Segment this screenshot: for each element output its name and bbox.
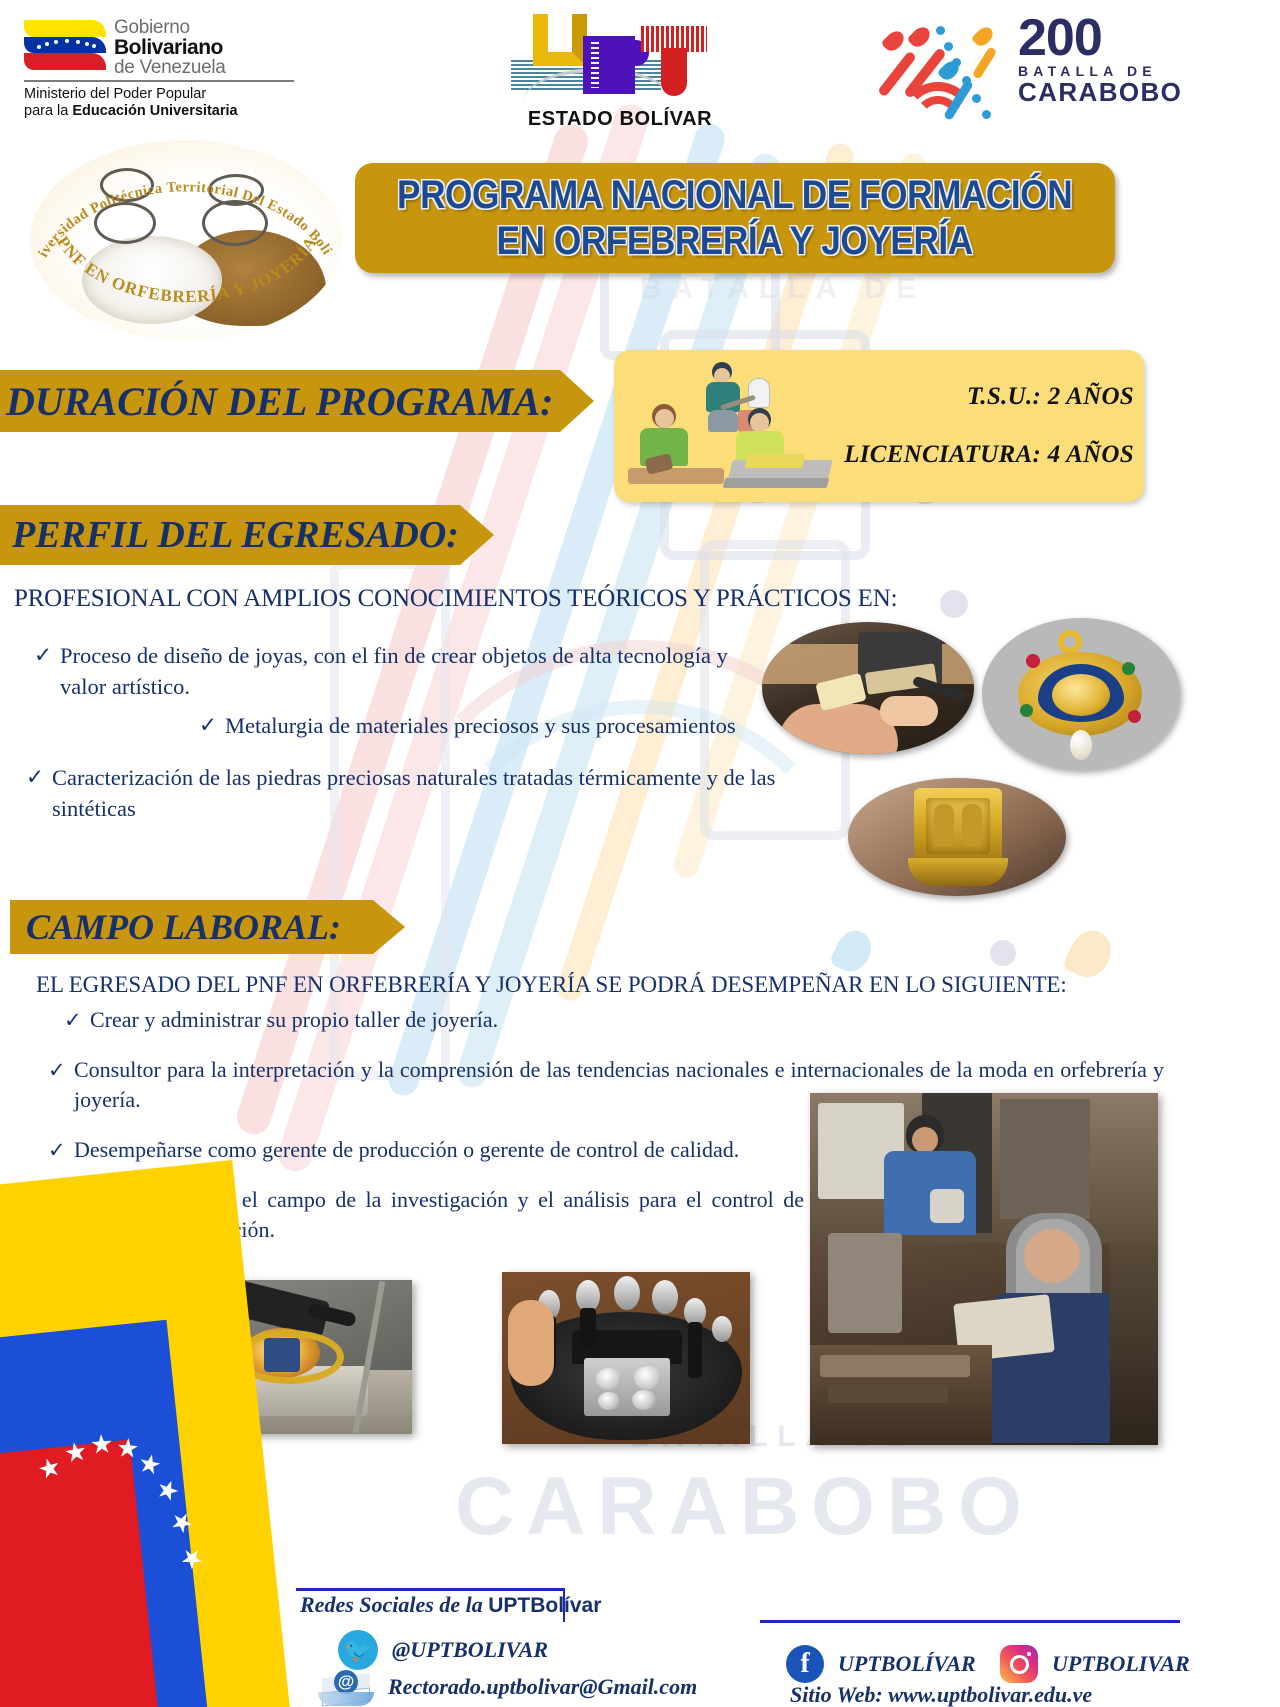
duration-item-tsu: T.S.U.: 2 AÑOS — [835, 383, 1134, 411]
campo-lead-text: EL EGRESADO DEL PNF EN ORFEBRERÍA Y JOYE… — [36, 972, 1067, 998]
photo-dapping-punches — [502, 1272, 750, 1444]
carabobo-number: 200 — [1018, 14, 1160, 62]
poster-root: BATALLA DE CARABOBO BATALLA DE Gobierno — [0, 0, 1280, 1707]
watermark-text-carabobo: CARABOBO — [455, 1460, 1034, 1554]
seal-crucible-icon — [202, 200, 268, 246]
ministry-line2: para la Educación Universitaria — [24, 103, 314, 120]
facebook-icon[interactable]: f — [786, 1645, 824, 1683]
duration-item-licenciatura: LICENCIATURA: 4 AÑOS — [835, 441, 1134, 469]
artisans-illustration — [620, 356, 835, 496]
perfil-bullet-2: Metalurgia de materiales preciosos y sus… — [195, 710, 815, 741]
gov-logo-line1: Gobierno — [114, 18, 226, 37]
gov-logo-line3: de Venezuela — [114, 58, 226, 77]
photo-gold-ring — [848, 778, 1066, 896]
watermark-dot — [990, 940, 1016, 966]
page-title-line2: EN ORFEBRERÍA Y JOYERÍA — [497, 218, 973, 264]
seal-background — [30, 140, 342, 340]
upt-logo-caption: ESTADO BOLÍVAR — [505, 108, 735, 131]
instagram-icon[interactable] — [1000, 1645, 1038, 1683]
footer-divider-right — [760, 1620, 1180, 1623]
section-heading-campo: CAMPO LABORAL: — [10, 900, 405, 954]
upt-logo: ESTADO BOLÍVAR — [505, 8, 735, 131]
photo-workshop-artisans — [810, 1093, 1158, 1445]
email-icon[interactable]: @ — [318, 1668, 374, 1706]
twitter-icon[interactable]: 🐦 — [338, 1630, 378, 1670]
poster-title-banner: PROGRAMA NACIONAL DE FORMACIÓN EN ORFEBR… — [355, 163, 1115, 273]
social-twitter[interactable]: 🐦 @UPTBOLIVAR — [338, 1630, 548, 1670]
photo-jeweler-at-bench — [762, 622, 974, 754]
carabobo-200-logo: 200 BATALLA DE CARABOBO — [880, 14, 1160, 126]
carabobo-emblem-icon — [880, 16, 1020, 122]
social-instagram[interactable]: UPTBOLIVAR — [1000, 1645, 1190, 1683]
seal-white-grains — [82, 236, 222, 324]
duration-box: T.S.U.: 2 AÑOS LICENCIATURA: 4 AÑOS — [614, 350, 1144, 502]
twitter-handle[interactable]: @UPTBOLIVAR — [392, 1637, 548, 1663]
venezuela-flag-icon — [24, 20, 106, 70]
perfil-lead-text: PROFESIONAL CON AMPLIOS CONOCIMIENTOS TE… — [14, 585, 897, 613]
perfil-bullet-3: Caracterización de las piedras preciosas… — [22, 762, 782, 824]
website-row[interactable]: Sitio Web: www.uptbolivar.edu.ve — [790, 1682, 1092, 1707]
campo-bullet-4: Desempeñarse en el campo de la investiga… — [44, 1185, 804, 1245]
duration-text-list: T.S.U.: 2 AÑOS LICENCIATURA: 4 AÑOS — [835, 383, 1144, 469]
instagram-handle[interactable]: UPTBOLIVAR — [1052, 1651, 1190, 1677]
gov-logo-line2: Bolivariano — [114, 37, 226, 58]
watermark-dot — [940, 590, 968, 618]
watermark-drop — [1062, 924, 1119, 984]
campo-bullet-3: Desempeñarse como gerente de producción … — [44, 1135, 804, 1165]
website-url[interactable]: Sitio Web: www.uptbolivar.edu.ve — [790, 1682, 1092, 1707]
photo-gold-pendant — [982, 618, 1180, 770]
section-heading-perfil: PERFIL DEL EGRESADO: — [0, 505, 494, 565]
facebook-handle[interactable]: UPTBOLÍVAR — [838, 1651, 976, 1677]
social-facebook[interactable]: f UPTBOLÍVAR — [786, 1645, 976, 1683]
email-address[interactable]: Rectorado.uptbolivar@Gmail.com — [388, 1674, 697, 1700]
watermark-text-batalla-top: BATALLA DE — [640, 272, 926, 306]
pnf-seal: Universidad Politécnica Territorial Del … — [30, 140, 342, 340]
section-heading-duracion: DURACIÓN DEL PROGRAMA: — [0, 370, 594, 432]
carabobo-carabobo-label: CARABOBO — [1018, 79, 1160, 105]
footer-divider-left — [296, 1588, 564, 1591]
campo-bullet-1: Crear y administrar su propio taller de … — [60, 1005, 1164, 1035]
page-title-line1: PROGRAMA NACIONAL DE FORMACIÓN — [397, 172, 1072, 218]
social-email[interactable]: @ Rectorado.uptbolivar@Gmail.com — [318, 1668, 697, 1706]
redes-sociales-label: Redes Sociales de la UPTBolívar — [300, 1592, 601, 1618]
perfil-bullet-1: Proceso de diseño de joyas, con el fin d… — [30, 640, 770, 702]
gov-logo-divider — [24, 80, 294, 82]
ministry-line1: Ministerio del Poder Popular — [24, 86, 314, 103]
seal-crucible-icon — [94, 202, 156, 244]
seal-crucible-icon — [100, 168, 154, 202]
gobierno-bolivariano-logo: Gobierno Bolivariano de Venezuela Minist… — [24, 18, 314, 120]
photo-torch-soldering — [180, 1280, 412, 1434]
upt-mark-icon — [505, 8, 735, 106]
